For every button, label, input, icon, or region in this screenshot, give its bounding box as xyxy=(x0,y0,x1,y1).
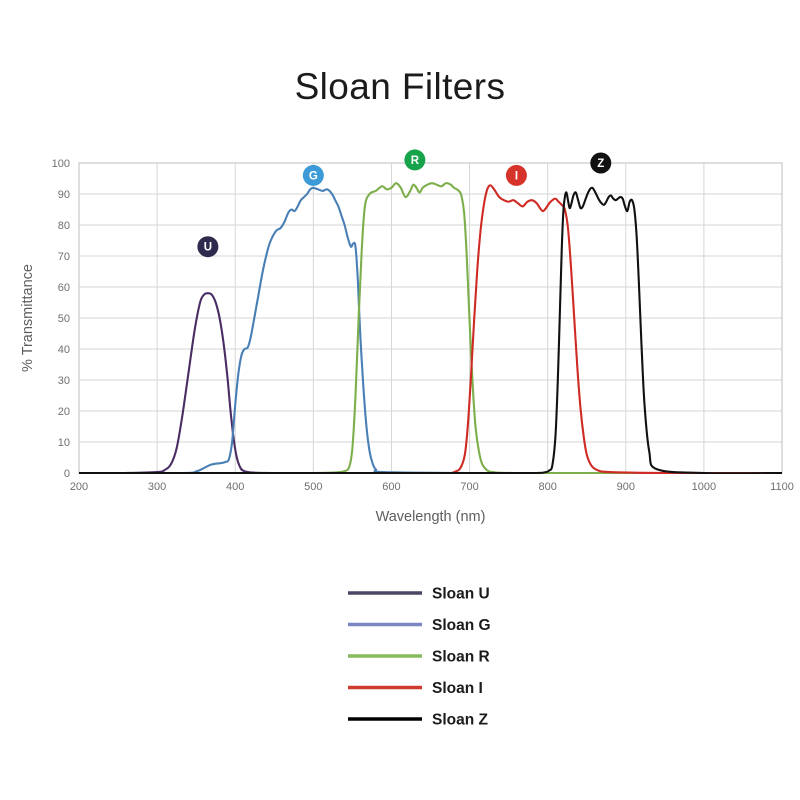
badge-r: R xyxy=(404,149,425,170)
x-tick-label: 1100 xyxy=(770,481,794,493)
chart-card: Sloan Filters 0102030405060708090100 200… xyxy=(0,0,800,800)
legend-label: Sloan Z xyxy=(432,712,489,729)
x-axis-title: Wavelength (nm) xyxy=(376,509,486,525)
badge-letter: R xyxy=(411,155,420,167)
badge-letter: G xyxy=(309,170,318,182)
y-axis-tick-labels: 0102030405060708090100 xyxy=(52,158,70,480)
badge-i: I xyxy=(506,165,527,186)
x-tick-label: 1000 xyxy=(692,481,716,493)
y-tick-label: 20 xyxy=(58,406,70,418)
series-line-sloan-u xyxy=(79,293,782,473)
x-tick-label: 400 xyxy=(226,481,244,493)
y-tick-label: 30 xyxy=(58,375,70,387)
x-tick-label: 700 xyxy=(460,481,478,493)
series-line-sloan-z xyxy=(79,188,782,474)
legend-item-sloan-i[interactable]: Sloan I xyxy=(348,680,483,697)
y-tick-label: 60 xyxy=(58,282,70,294)
x-tick-label: 300 xyxy=(148,481,166,493)
badge-u: U xyxy=(197,236,218,257)
x-axis-tick-labels: 20030040050060070080090010001100 xyxy=(70,481,794,493)
y-tick-label: 80 xyxy=(58,220,70,232)
legend-item-sloan-g[interactable]: Sloan G xyxy=(348,617,491,634)
legend-item-sloan-z[interactable]: Sloan Z xyxy=(348,712,489,729)
y-tick-label: 40 xyxy=(58,344,70,356)
badge-letter: Z xyxy=(597,158,604,170)
legend-label: Sloan G xyxy=(432,617,491,634)
x-tick-label: 800 xyxy=(538,481,556,493)
sloan-filters-chart: 0102030405060708090100 20030040050060070… xyxy=(0,0,800,800)
legend-label: Sloan U xyxy=(432,586,490,603)
y-tick-label: 70 xyxy=(58,251,70,263)
badge-letter: I xyxy=(515,170,518,182)
legend-item-sloan-u[interactable]: Sloan U xyxy=(348,586,490,603)
grid-layer xyxy=(79,163,782,473)
y-tick-label: 90 xyxy=(58,189,70,201)
x-tick-label: 600 xyxy=(382,481,400,493)
x-tick-label: 500 xyxy=(304,481,322,493)
y-tick-label: 50 xyxy=(58,313,70,325)
badge-z: Z xyxy=(590,153,611,174)
x-tick-label: 200 xyxy=(70,481,88,493)
y-tick-label: 10 xyxy=(58,437,70,449)
series-line-sloan-g xyxy=(79,188,782,473)
legend-item-sloan-r[interactable]: Sloan R xyxy=(348,649,490,666)
badge-letter: U xyxy=(204,242,212,254)
series-line-sloan-i xyxy=(79,185,782,473)
series-layer xyxy=(79,183,782,473)
y-tick-label: 100 xyxy=(52,158,70,170)
badge-g: G xyxy=(303,165,324,186)
legend-label: Sloan R xyxy=(432,649,490,666)
y-axis-title: % Transmittance xyxy=(20,264,36,372)
x-tick-label: 900 xyxy=(617,481,635,493)
legend-label: Sloan I xyxy=(432,680,483,697)
chart-legend: Sloan USloan GSloan RSloan ISloan Z xyxy=(348,586,491,729)
series-line-sloan-r xyxy=(79,183,782,473)
y-tick-label: 0 xyxy=(64,468,70,480)
